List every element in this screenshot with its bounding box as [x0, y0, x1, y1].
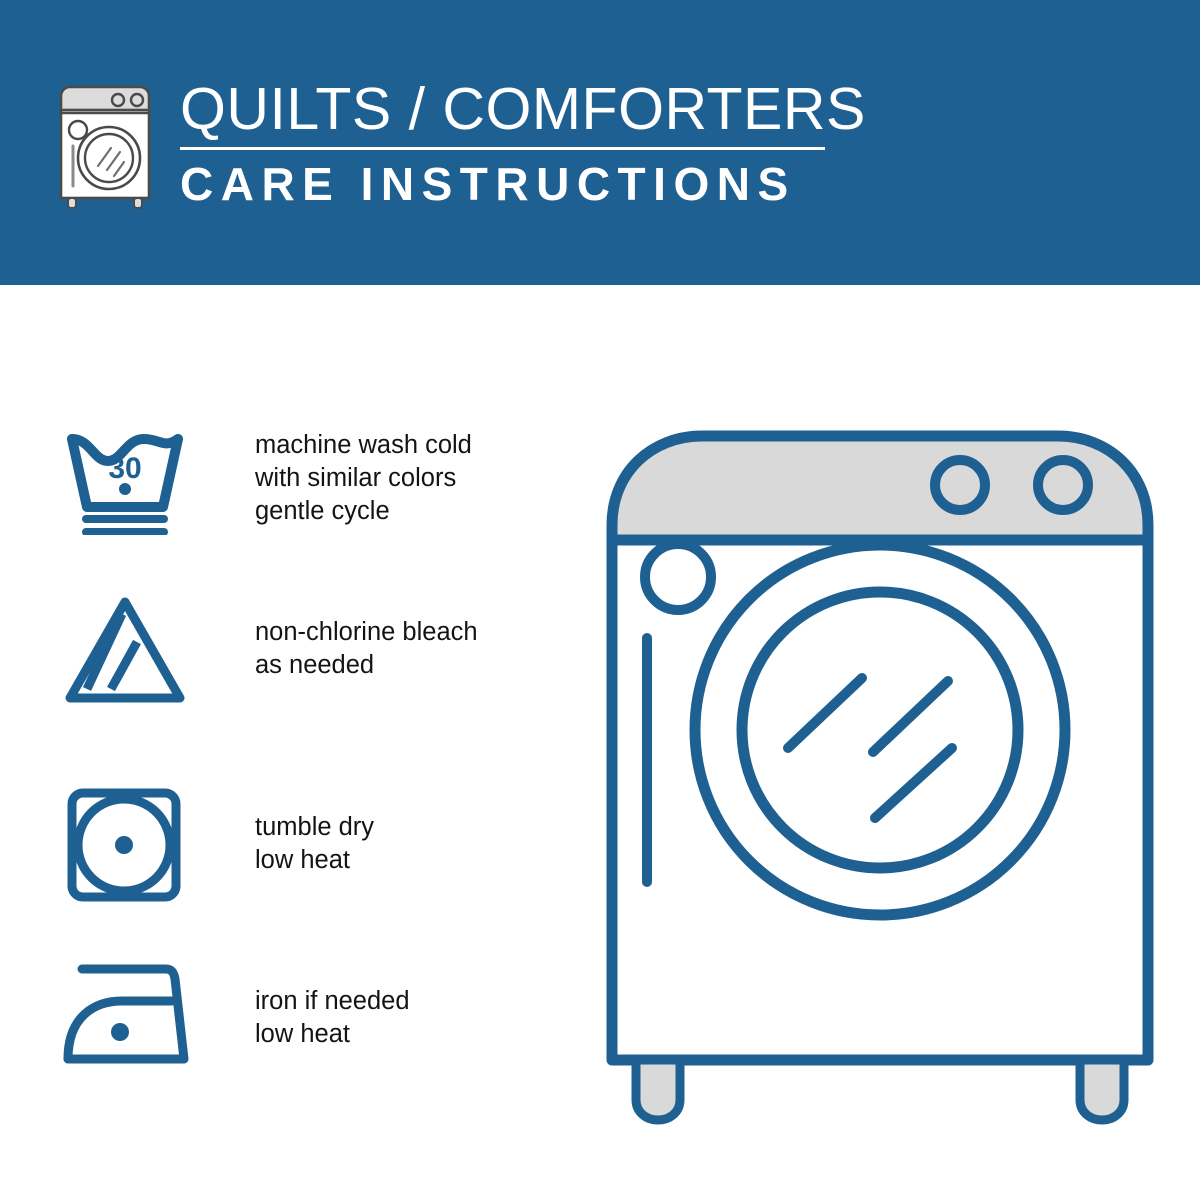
- care-item-text: non-chlorine bleach as needed: [255, 616, 478, 682]
- door-shine-line-3: [875, 748, 952, 818]
- iron-symbol: [60, 955, 190, 1075]
- care-instruction-list: 30 machine wash cold with similar colors…: [0, 285, 560, 1200]
- title-divider: [180, 147, 825, 150]
- bleach-triangle-symbol: [60, 590, 190, 710]
- care-item-tumble-dry: tumble dry low heat: [60, 785, 374, 905]
- care-instructions-page: QUILTS / COMFORTERS CARE INSTRUCTIONS 30…: [0, 0, 1200, 1200]
- care-item-iron: iron if needed low heat: [60, 955, 410, 1075]
- washing-machine-illustration: [590, 400, 1170, 1125]
- header-banner: QUILTS / COMFORTERS CARE INSTRUCTIONS: [0, 0, 1200, 285]
- iron-dot-icon: [111, 1023, 129, 1041]
- door-inner-ring: [742, 592, 1018, 868]
- page-title: QUILTS / COMFORTERS: [180, 78, 866, 140]
- care-item-machine-wash: 30 machine wash cold with similar colors…: [60, 415, 472, 535]
- control-panel-fill: [612, 436, 1148, 540]
- machine-wash-symbol: 30: [60, 415, 190, 535]
- header-title-block: QUILTS / COMFORTERS CARE INSTRUCTIONS: [180, 78, 866, 209]
- machine-leg-right: [1080, 1060, 1124, 1120]
- door-outer-ring: [695, 545, 1065, 915]
- header-content: QUILTS / COMFORTERS CARE INSTRUCTIONS: [52, 78, 866, 210]
- tumble-dry-symbol: [60, 785, 190, 905]
- care-item-text: tumble dry low heat: [255, 811, 374, 877]
- page-subtitle: CARE INSTRUCTIONS: [180, 159, 866, 209]
- gentle-bar-2: [82, 528, 168, 535]
- door-shine-line-1: [788, 678, 862, 748]
- machine-leg-left: [636, 1060, 680, 1120]
- washing-machine-icon: [52, 82, 158, 210]
- bleach-stripe-2: [111, 642, 137, 689]
- care-item-text: machine wash cold with similar colors ge…: [255, 429, 472, 528]
- door-shine-line-2: [873, 681, 948, 752]
- gentle-bar-1: [82, 515, 168, 523]
- wash-temperature-label: 30: [108, 452, 141, 485]
- dispenser-circle-icon: [645, 544, 711, 610]
- tumble-dry-dot-icon: [115, 836, 133, 854]
- care-item-text: iron if needed low heat: [255, 985, 410, 1051]
- care-item-bleach: non-chlorine bleach as needed: [60, 590, 478, 710]
- wash-dot-icon: [119, 483, 131, 495]
